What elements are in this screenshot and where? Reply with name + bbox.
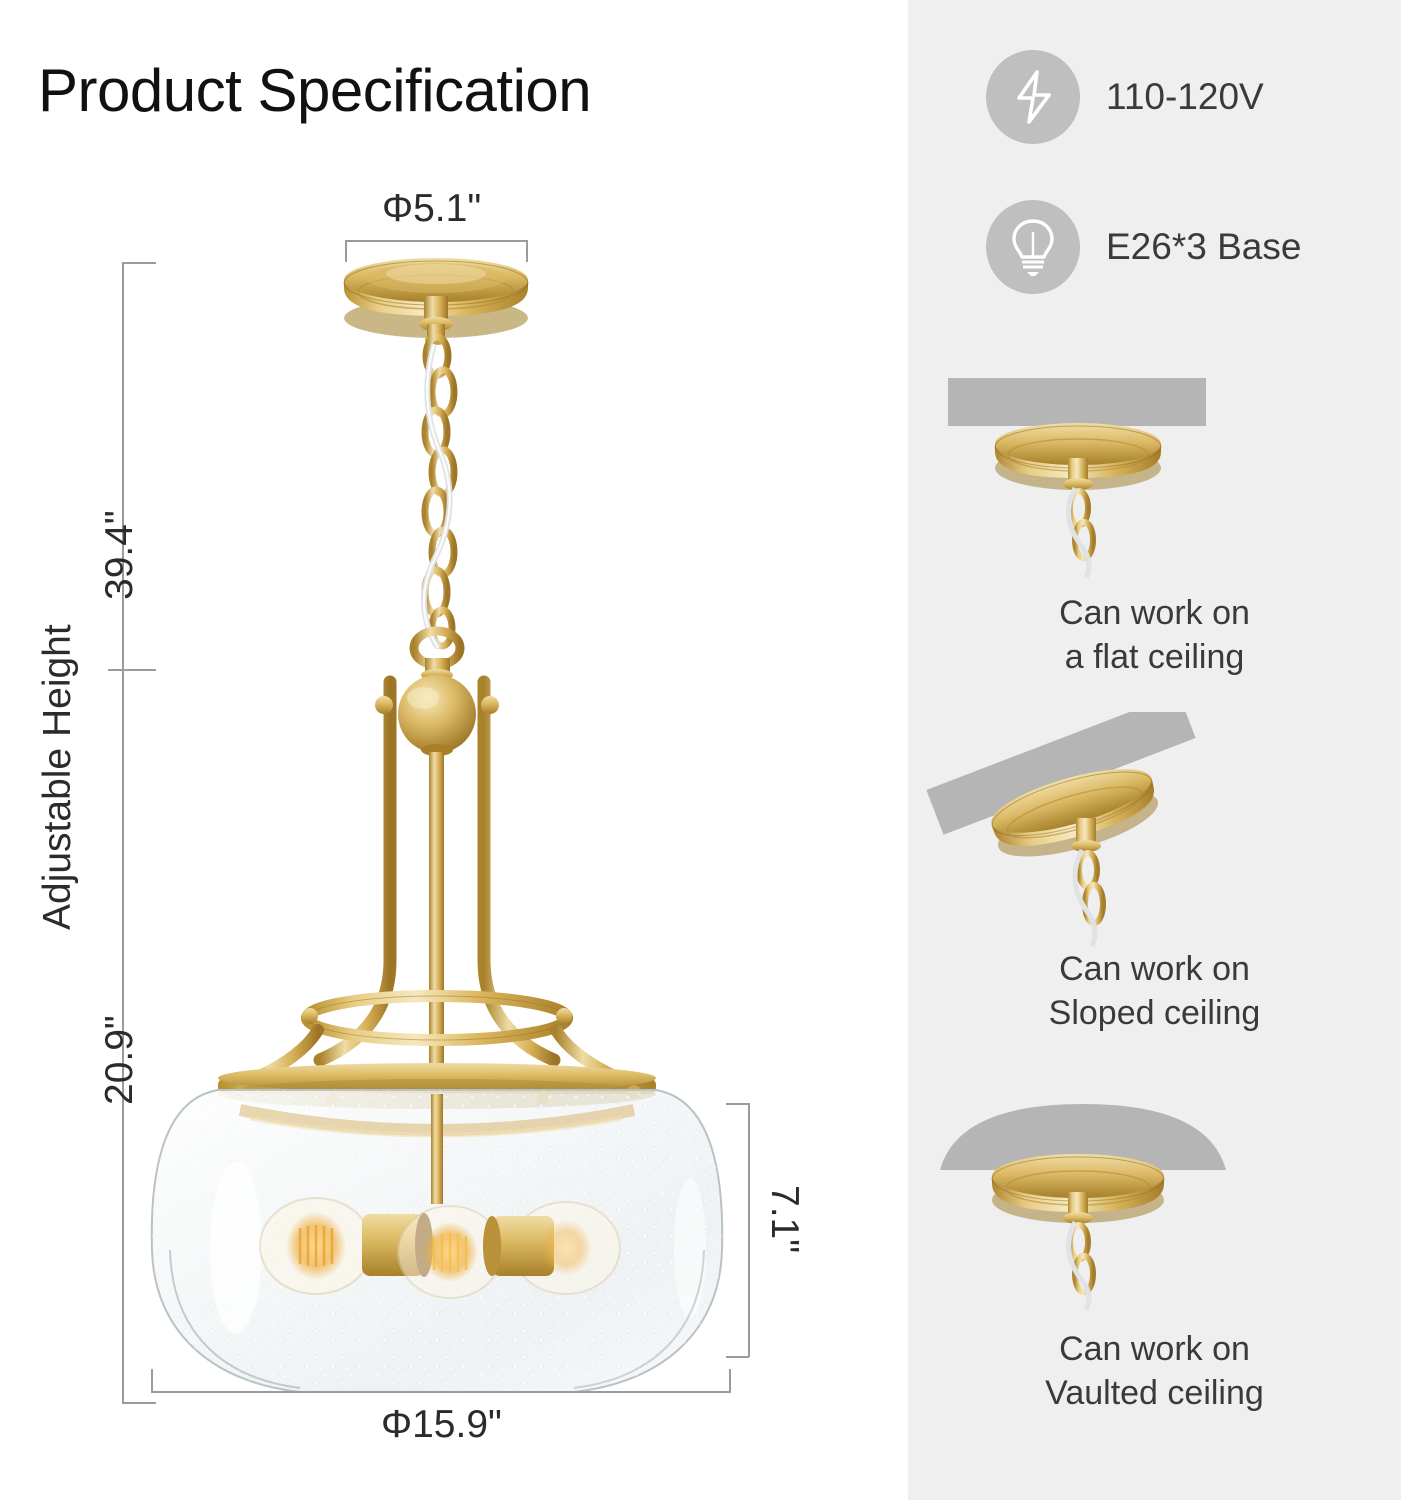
height-tick-middle [108,669,156,671]
shade-width-line [151,1391,731,1393]
arm-knob-right [481,696,499,714]
adjustable-height-label: Adjustable Height [36,624,80,930]
canopy-width-tick-right [526,240,528,262]
spec-row-voltage: 110-120V [986,50,1264,144]
voltage-label: 110-120V [1106,76,1264,118]
height-tick-top [122,262,156,264]
base-icon-badge [986,200,1080,294]
fixture-height-label: 20.9" [98,1015,142,1105]
canopy-width-tick-left [345,240,347,262]
product-specification-page: Product Specification [0,0,1401,1500]
shade-height-label: 7.1" [762,1185,806,1253]
flat-ceiling-caption-line1: Can work on [908,592,1401,636]
vaulted-ceiling-caption: Can work on Vaulted ceiling [908,1328,1401,1415]
height-tick-bottom [122,1402,156,1404]
vaulted-ceiling-caption-line1: Can work on [908,1328,1401,1372]
ceiling-option-sloped: Can work on Sloped ceiling [908,712,1401,1035]
center-rod [429,752,444,1072]
total-height-label: 39.4" [98,510,142,600]
spec-row-base: E26*3 Base [986,200,1301,294]
flat-ceiling-caption-line2: a flat ceiling [908,636,1401,680]
lightning-bolt-icon [1007,68,1059,126]
shade-diameter-label: Φ15.9" [381,1403,502,1447]
shade-height-tick-bottom [726,1356,749,1358]
shade-width-tick-left [151,1369,153,1392]
vaulted-ceiling-illustration [908,1092,1401,1322]
ceiling-option-flat: Can work on a flat ceiling [908,356,1401,679]
flat-ceiling-illustration [908,356,1401,586]
sloped-ceiling-illustration [908,712,1401,942]
sloped-ceiling-caption-line2: Sloped ceiling [908,992,1401,1036]
canopy-width-line [345,240,528,242]
height-dimension-line [122,262,124,1404]
light-bulb-icon [1008,216,1058,278]
right-spec-panel: 110-120V E26*3 Base [908,0,1401,1500]
ball-finial [398,675,476,756]
voltage-icon-badge [986,50,1080,144]
flat-ceiling-caption: Can work on a flat ceiling [908,592,1401,679]
left-diagram-panel: Product Specification [0,0,908,1500]
shade-height-line [748,1103,750,1357]
vaulted-ceiling-caption-line2: Vaulted ceiling [908,1372,1401,1416]
base-label: E26*3 Base [1106,226,1301,268]
flat-ceiling-surface [948,378,1206,426]
arm-knob-left [375,696,393,714]
canopy-diameter-label: Φ5.1" [382,187,481,231]
ceiling-option-vaulted: Can work on Vaulted ceiling [908,1092,1401,1415]
shade-height-tick-top [726,1103,749,1105]
shade-width-tick-right [729,1369,731,1392]
